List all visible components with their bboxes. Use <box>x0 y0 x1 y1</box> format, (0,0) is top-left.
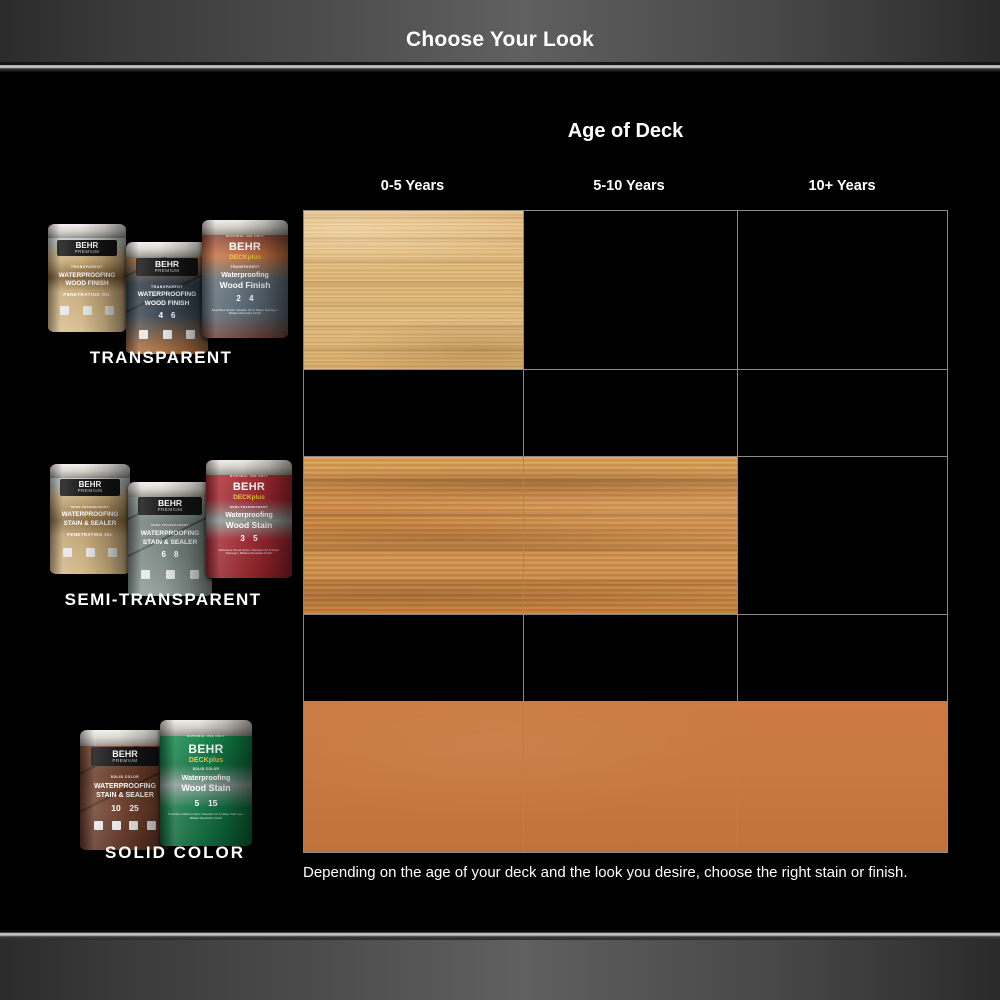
infographic-page: Choose Your Look Age of Deck 0-5 Years 5… <box>0 0 1000 1000</box>
can-warranty-1: 5 <box>194 798 199 808</box>
can-detail: Provides Uniform Color / Resists UV & Wa… <box>167 813 244 820</box>
group-label-semi-transparent: SEMI-TRANSPARENT <box>32 590 294 610</box>
can-warranty-1: 3 <box>240 534 244 543</box>
can-kicker: TRANSPARENT <box>131 286 203 290</box>
can-detail: Beautifies Wood / Resists UV & Water Dam… <box>209 309 281 316</box>
group-label-transparent: TRANSPARENT <box>30 348 292 368</box>
column-header-10-plus-years: 10+ Years <box>736 178 948 194</box>
grid-divider-horizontal-4 <box>304 701 947 702</box>
can-lid <box>50 464 130 478</box>
can-name-line2: Wood Stain <box>166 784 247 793</box>
can-subbrand: PREMIUM <box>112 759 137 764</box>
can-lid <box>80 730 170 746</box>
paint-can-semi-transparent-penetrating-oil[interactable]: BEHR PREMIUM SEMI-TRANSPARENT WATERPROOF… <box>50 464 130 574</box>
can-warranty-1: 2 <box>236 294 240 303</box>
can-subbrand: PREMIUM <box>78 489 103 494</box>
page-title: Choose Your Look <box>0 28 1000 52</box>
can-warranty-1: 4 <box>159 311 163 320</box>
can-warranty-1: 6 <box>162 550 166 559</box>
can-name-line1: WATERPROOFING <box>131 292 203 299</box>
can-brand-plate: BEHR PREMIUM <box>91 747 159 766</box>
can-feature-icons <box>141 570 198 579</box>
can-brand-plate: BEHR PREMIUM <box>138 497 202 515</box>
can-subbrand: DECKplus <box>166 757 247 764</box>
can-warranty-2: 15 <box>208 798 217 808</box>
can-feature-icons <box>139 330 195 339</box>
swatch-solid-color-all-years <box>304 701 947 852</box>
footnote-text: Depending on the age of your deck and th… <box>303 862 948 884</box>
can-warranty-numbers: 3 5 <box>215 534 284 543</box>
can-lid <box>202 220 288 235</box>
can-top-banner: NATIONAL USE ONLY <box>211 475 287 478</box>
can-name-line2: Wood Finish <box>207 281 283 290</box>
can-name-line1: Waterproofing <box>211 512 287 519</box>
footer-rule <box>0 930 1000 940</box>
can-kicker: TRANSPARENT <box>53 266 122 270</box>
can-warranty-2: 8 <box>174 550 178 559</box>
can-brand: BEHR <box>166 743 247 756</box>
header-rule <box>0 62 1000 72</box>
paint-can-semi-transparent-stain-sealer[interactable]: BEHR PREMIUM SEMI-TRANSPARENT WATERPROOF… <box>128 482 212 596</box>
paint-can-semi-transparent-deckplus[interactable]: NATIONAL USE ONLY BEHR DECKplus SEMI-TRA… <box>206 460 292 578</box>
can-subbrand: PREMIUM <box>155 269 180 274</box>
can-subbrand: DECKplus <box>207 255 283 262</box>
paint-can-transparent-deckplus[interactable]: NATIONAL USE ONLY BEHR DECKplus TRANSPAR… <box>202 220 288 338</box>
can-lid <box>48 224 126 238</box>
paint-can-solid-color-deckplus[interactable]: NATIONAL USE ONLY BEHR DECKplus SOLID CO… <box>160 720 252 846</box>
can-name-line2: STAIN & SEALER <box>85 792 164 799</box>
grid-divider-horizontal-1 <box>304 369 947 370</box>
can-kicker: SOLID COLOR <box>166 768 247 771</box>
can-warranty-2: 6 <box>171 311 175 320</box>
grid-divider-horizontal-2 <box>304 456 947 457</box>
product-group-solid-color: BEHR PREMIUM SOLID COLOR WATERPROOFING S… <box>60 718 290 868</box>
grid-divider-horizontal-3 <box>304 614 947 615</box>
can-name-line2: STAIN & SEALER <box>55 521 125 528</box>
column-headers: 0-5 Years 5-10 Years 10+ Years <box>303 178 948 200</box>
footer-bar <box>0 930 1000 1000</box>
can-subbrand: PREMIUM <box>158 508 183 513</box>
paint-can-solid-color-stain-sealer[interactable]: BEHR PREMIUM SOLID COLOR WATERPROOFING S… <box>80 730 170 850</box>
look-matrix <box>303 210 948 853</box>
can-feature-icons <box>63 548 117 557</box>
can-warranty-numbers: 4 6 <box>134 311 200 320</box>
grid-divider-vertical-1 <box>523 211 524 852</box>
can-kicker: SEMI-TRANSPARENT <box>133 524 207 527</box>
can-name-line1: Waterproofing <box>207 272 283 279</box>
can-warranty-numbers: 5 15 <box>169 798 243 808</box>
can-warranty-numbers: 10 25 <box>89 803 161 813</box>
can-name-line2: WOOD FINISH <box>53 281 122 288</box>
can-lid <box>206 460 292 475</box>
grid-divider-vertical-2 <box>737 211 738 852</box>
can-detail: Enhances Wood Grain / Resists UV & Water… <box>213 549 285 556</box>
can-subbrand: DECKplus <box>211 495 287 502</box>
can-warranty-2: 4 <box>249 294 253 303</box>
can-warranty-2: 5 <box>253 534 257 543</box>
can-detail: PENETRATING OIL <box>55 533 125 538</box>
can-warranty-2: 25 <box>129 803 138 813</box>
can-kicker: SEMI-TRANSPARENT <box>211 506 287 509</box>
can-feature-icons <box>60 306 113 315</box>
can-top-banner: NATIONAL USE ONLY <box>166 735 247 738</box>
can-lid <box>126 242 208 257</box>
swatch-transparent-0-5-years <box>304 211 523 369</box>
product-group-semi-transparent: BEHR PREMIUM SEMI-TRANSPARENT WATERPROOF… <box>32 458 294 618</box>
header-bar: Choose Your Look <box>0 0 1000 72</box>
column-header-0-5-years: 0-5 Years <box>303 178 522 194</box>
can-name-line2: Wood Stain <box>211 521 287 530</box>
can-brand-plate: BEHR PREMIUM <box>60 479 121 496</box>
swatch-semi-transparent-0-10-years <box>304 456 737 614</box>
can-kicker: SEMI-TRANSPARENT <box>55 506 125 509</box>
can-name-line1: WATERPROOFING <box>55 512 125 519</box>
product-group-transparent: BEHR PREMIUM TRANSPARENT WATERPROOFING W… <box>30 218 292 373</box>
can-name-line1: WATERPROOFING <box>133 531 207 538</box>
column-header-5-10-years: 5-10 Years <box>522 178 736 194</box>
age-of-deck-title: Age of Deck <box>303 120 948 143</box>
can-brand-plate: BEHR PREMIUM <box>57 240 116 256</box>
can-kicker: TRANSPARENT <box>207 266 283 269</box>
can-top-banner: NATIONAL USE ONLY <box>207 235 283 238</box>
can-name-line1: WATERPROOFING <box>85 783 164 790</box>
can-kicker: SOLID COLOR <box>85 776 164 779</box>
can-lid <box>128 482 212 497</box>
footer-gradient <box>0 930 1000 1000</box>
can-warranty-numbers: 2 4 <box>211 294 280 303</box>
can-detail: PENETRATING OIL <box>53 293 122 298</box>
can-warranty-1: 10 <box>111 803 120 813</box>
can-brand: BEHR <box>211 482 287 494</box>
can-name-line1: Waterproofing <box>166 774 247 782</box>
can-subbrand: PREMIUM <box>75 250 100 255</box>
can-brand: BEHR <box>207 242 283 254</box>
can-name-line2: WOOD FINISH <box>131 301 203 308</box>
can-feature-icons <box>94 821 155 830</box>
can-brand-plate: BEHR PREMIUM <box>136 258 198 276</box>
paint-can-transparent-wood-finish[interactable]: BEHR PREMIUM TRANSPARENT WATERPROOFING W… <box>126 242 208 354</box>
can-name-line2: STAIN & SEALER <box>133 540 207 547</box>
paint-can-transparent-penetrating-oil[interactable]: BEHR PREMIUM TRANSPARENT WATERPROOFING W… <box>48 224 126 332</box>
can-name-line1: WATERPROOFING <box>53 273 122 280</box>
can-warranty-numbers: 6 8 <box>136 550 203 559</box>
group-label-solid-color: SOLID COLOR <box>60 843 290 863</box>
